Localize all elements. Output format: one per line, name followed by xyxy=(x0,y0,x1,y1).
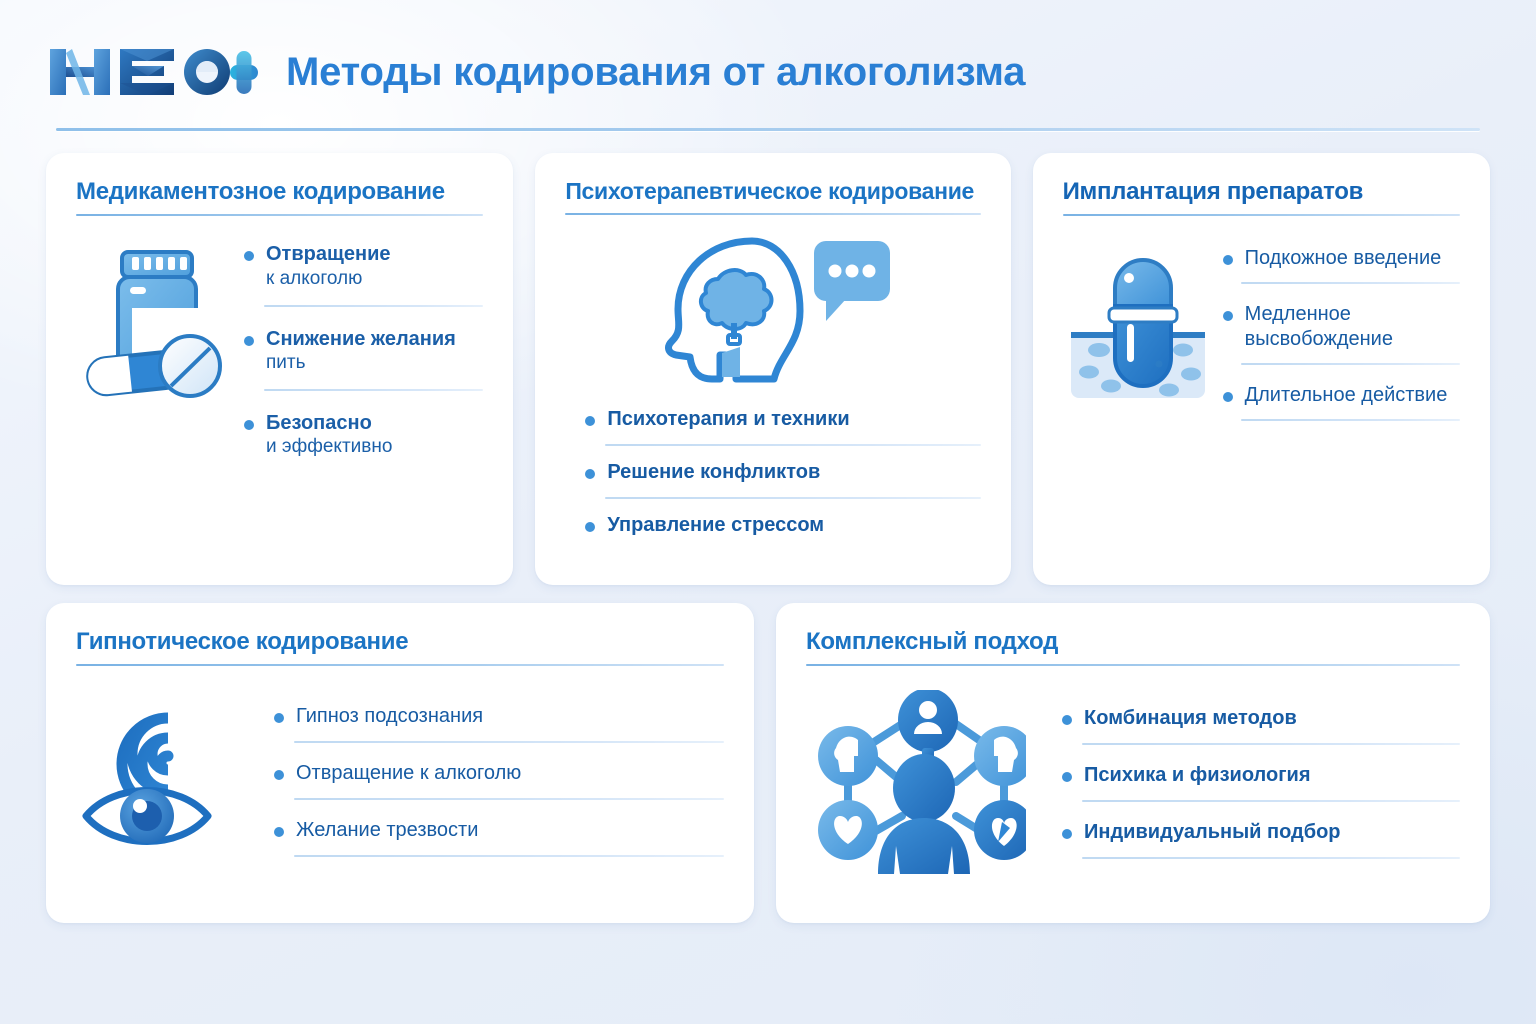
list-item-main: Отвращение xyxy=(266,242,483,266)
list-item: Психика и физиология xyxy=(1060,763,1460,788)
list-item-main: Желание трезвости xyxy=(296,818,724,843)
list-item-main: Психотерапия и техники xyxy=(607,407,980,432)
list-item-sub: высвобождение xyxy=(1245,327,1460,352)
list-separator xyxy=(1241,419,1460,421)
card-title-underline xyxy=(76,664,724,666)
list-item: Длительное действие xyxy=(1221,383,1460,408)
list-item-main: Управление стрессом xyxy=(607,513,980,538)
card-title-complex-approach: Комплексный подход xyxy=(806,629,1460,655)
card-psychotherapy[interactable]: Психотерапевтическое кодирование xyxy=(535,153,1010,585)
bullet-dot-icon xyxy=(1062,715,1072,725)
list-item-main: Комбинация методов xyxy=(1084,706,1460,731)
list-separator xyxy=(1082,743,1460,745)
card-title-underline xyxy=(565,213,980,215)
list-item-main: Отвращение к алкоголю xyxy=(296,761,724,786)
bullet-list-hypnosis: Гипноз подсознания Отвращение к алкоголю… xyxy=(272,684,724,875)
capsule-implant-icon xyxy=(1063,240,1213,439)
list-item-main: Медленное xyxy=(1245,302,1460,327)
bullet-dot-icon xyxy=(585,522,595,532)
list-item: Решение конфликтов xyxy=(583,460,980,485)
neo-plus-logo xyxy=(46,43,258,101)
list-item: Снижение желания пить xyxy=(242,327,483,375)
list-item: Желание трезвости xyxy=(272,818,724,843)
list-item-main: Психика и физиология xyxy=(1084,763,1460,788)
bullet-dot-icon xyxy=(244,251,254,261)
card-title-underline xyxy=(1063,214,1460,216)
bullet-list-implantation: Подкожное введение Медленное высвобожден… xyxy=(1221,240,1460,439)
list-item-main: Безопасно xyxy=(266,411,483,435)
bullet-dot-icon xyxy=(244,420,254,430)
list-item-sub: пить xyxy=(266,351,483,375)
bullet-dot-icon xyxy=(1223,255,1233,265)
list-item-main: Подкожное введение xyxy=(1245,246,1460,271)
cards-row-bottom: Гипнотическое кодирование xyxy=(46,603,1490,923)
list-separator xyxy=(605,444,980,446)
list-item: Безопасно и эффективно xyxy=(242,411,483,459)
bullet-dot-icon xyxy=(244,336,254,346)
list-item-main: Индивидуальный подбор xyxy=(1084,820,1460,845)
bullet-dot-icon xyxy=(1223,311,1233,321)
list-item-sub: и эффективно xyxy=(266,435,483,459)
list-separator xyxy=(264,305,483,307)
list-item: Индивидуальный подбор xyxy=(1060,820,1460,845)
list-item-sub: к алкоголю xyxy=(266,267,483,291)
list-separator xyxy=(605,497,980,499)
list-separator xyxy=(1241,363,1460,365)
list-separator xyxy=(1241,282,1460,284)
page-title: Методы кодирования от алкоголизма xyxy=(286,50,1025,95)
card-title-implantation: Имплантация препаратов xyxy=(1063,179,1460,205)
list-separator xyxy=(294,855,724,857)
list-item-main: Решение конфликтов xyxy=(607,460,980,485)
card-title-underline xyxy=(806,664,1460,666)
people-network-icon xyxy=(806,682,1036,885)
bullet-dot-icon xyxy=(1062,772,1072,782)
list-item: Гипноз подсознания xyxy=(272,704,724,729)
card-title-medication: Медикаментозное кодирование xyxy=(76,179,483,205)
bullet-list-complex-approach: Комбинация методов Психика и физиология … xyxy=(1060,682,1460,885)
spiral-eye-icon xyxy=(76,684,246,875)
bullet-dot-icon xyxy=(585,469,595,479)
list-item-main: Длительное действие xyxy=(1245,383,1460,408)
pill-bottle-icon xyxy=(76,240,236,458)
card-complex-approach[interactable]: Комплексный подход xyxy=(776,603,1490,923)
list-item: Подкожное введение xyxy=(1221,246,1460,271)
infographic-page: Методы кодирования от алкоголизма Медика… xyxy=(0,0,1536,1024)
list-item-main: Гипноз подсознания xyxy=(296,704,724,729)
bullet-dot-icon xyxy=(274,827,284,837)
list-separator xyxy=(294,741,724,743)
list-item: Отвращение к алкоголю xyxy=(242,242,483,290)
bullet-dot-icon xyxy=(1062,829,1072,839)
list-item-main: Снижение желания xyxy=(266,327,483,351)
list-item: Управление стрессом xyxy=(583,513,980,538)
list-separator xyxy=(1082,857,1460,859)
card-title-hypnosis: Гипнотическое кодирование xyxy=(76,629,724,655)
bullet-list-medication: Отвращение к алкоголю Снижение желания п… xyxy=(242,240,483,458)
list-separator xyxy=(1082,800,1460,802)
card-title-psychotherapy: Психотерапевтическое кодирование xyxy=(565,179,980,204)
bullet-list-psychotherapy: Психотерапия и техники Решение конфликто… xyxy=(565,407,980,538)
list-item: Отвращение к алкоголю xyxy=(272,761,724,786)
cards-row-top: Медикаментозное кодирование xyxy=(46,153,1490,585)
page-header: Методы кодирования от алкоголизма xyxy=(46,0,1490,120)
card-medication[interactable]: Медикаментозное кодирование xyxy=(46,153,513,585)
list-separator xyxy=(264,389,483,391)
bullet-dot-icon xyxy=(1223,392,1233,402)
head-brain-speech-icon xyxy=(565,227,980,387)
list-separator xyxy=(294,798,724,800)
header-divider xyxy=(56,128,1480,131)
card-implantation[interactable]: Имплантация препаратов xyxy=(1033,153,1490,585)
bullet-dot-icon xyxy=(585,416,595,426)
list-item: Комбинация методов xyxy=(1060,706,1460,731)
list-item: Психотерапия и техники xyxy=(583,407,980,432)
list-item: Медленное высвобождение xyxy=(1221,302,1460,352)
neo-plus-logo-icon xyxy=(46,43,258,101)
card-hypnosis[interactable]: Гипнотическое кодирование xyxy=(46,603,754,923)
card-title-underline xyxy=(76,214,483,216)
bullet-dot-icon xyxy=(274,713,284,723)
bullet-dot-icon xyxy=(274,770,284,780)
